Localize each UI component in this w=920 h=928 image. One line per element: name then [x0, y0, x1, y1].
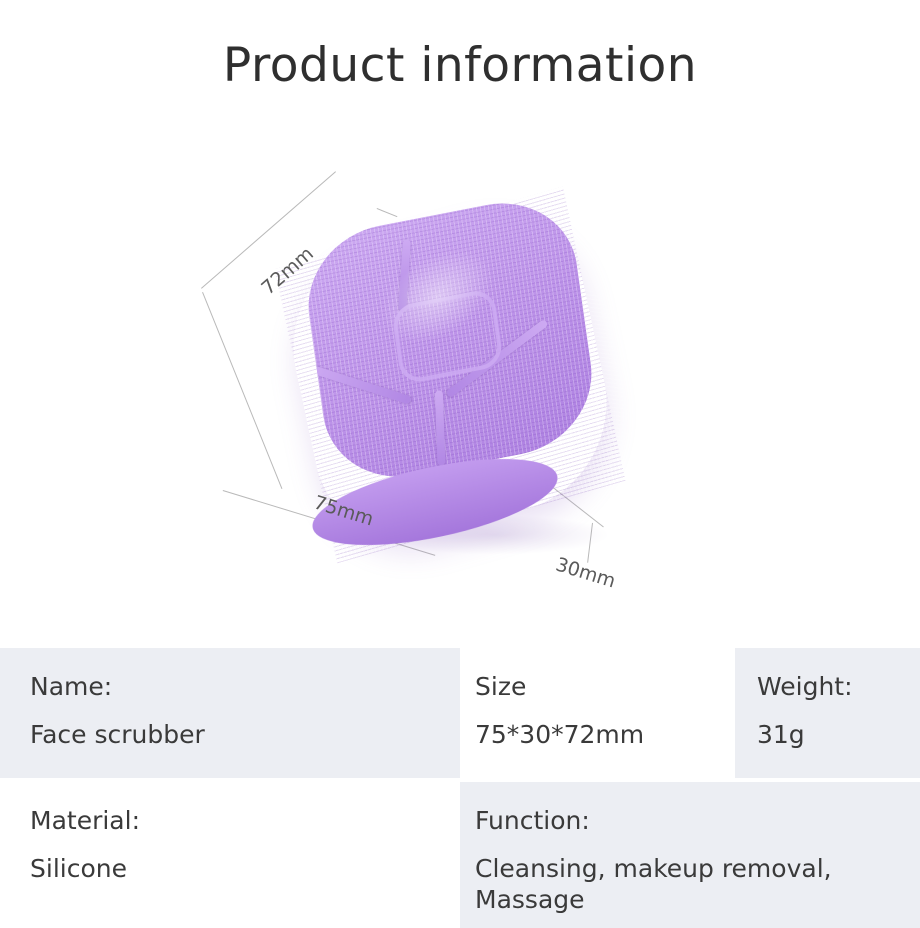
- spec-value-name: Face scrubber: [30, 720, 460, 751]
- spec-cell-material: Material: Silicone: [0, 782, 460, 928]
- table-row: Name: Face scrubber Size 75*30*72mm Weig…: [0, 648, 920, 778]
- spec-key-weight: Weight:: [757, 674, 920, 700]
- dimension-label-30mm: 30mm: [553, 554, 618, 593]
- spec-cell-name: Name: Face scrubber: [0, 648, 460, 778]
- product-image-area: 72mm 75mm 30mm: [0, 140, 920, 640]
- spec-value-size: 75*30*72mm: [475, 720, 735, 751]
- spec-cell-weight: Weight: 31g: [735, 648, 920, 778]
- table-row: Material: Silicone Function: Cleansing, …: [0, 782, 920, 928]
- scrubber-top-face: [299, 190, 601, 491]
- product-information-page: Product information: [0, 0, 920, 924]
- dimension-line-bottom: [202, 292, 282, 489]
- spec-key-function: Function:: [475, 808, 920, 834]
- spec-key-material: Material:: [30, 808, 460, 834]
- specification-table: Name: Face scrubber Size 75*30*72mm Weig…: [0, 648, 920, 928]
- spec-cell-size: Size 75*30*72mm: [460, 648, 735, 778]
- page-title: Product information: [0, 38, 920, 93]
- spec-value-weight: 31g: [757, 720, 920, 751]
- product-figure: 72mm 75mm 30mm: [195, 170, 675, 610]
- spec-key-size: Size: [475, 674, 735, 700]
- spec-key-name: Name:: [30, 674, 460, 700]
- face-scrubber-illustration: [280, 215, 640, 545]
- spec-cell-function: Function: Cleansing, makeup removal, Mas…: [460, 782, 920, 928]
- spec-value-function: Cleansing, makeup removal, Massage: [475, 854, 920, 915]
- spec-value-material: Silicone: [30, 854, 460, 885]
